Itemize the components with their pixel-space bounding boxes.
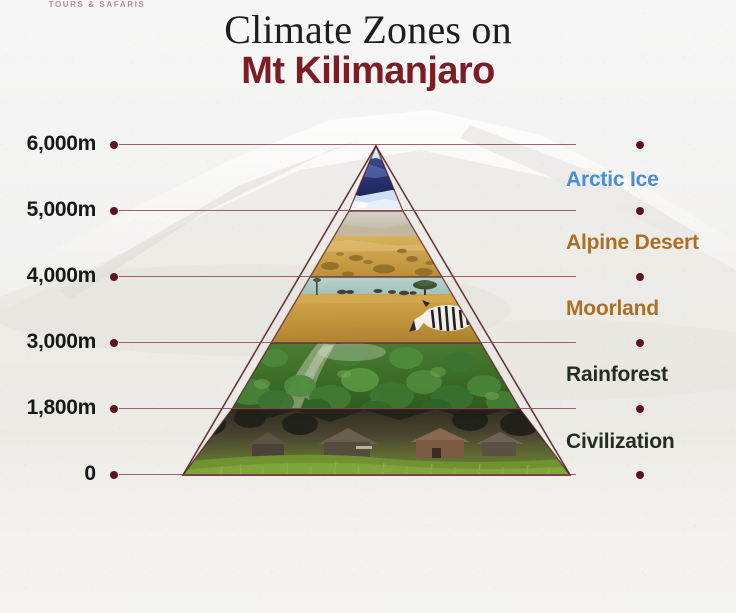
elevation-label-0: 0	[0, 462, 96, 486]
elevation-label-5000: 5,000m	[0, 198, 96, 222]
village-huts	[246, 428, 524, 458]
zone-label-moorland: Moorland	[566, 297, 659, 321]
elevation-label-3000: 3,000m	[0, 330, 96, 354]
elevation-dot-right-0	[636, 471, 644, 479]
elevation-dot-left-4000	[110, 273, 118, 281]
elevation-dot-left-6000	[110, 141, 118, 149]
elevation-label-6000: 6,000m	[0, 132, 96, 156]
elevation-dot-right-3000	[636, 339, 644, 347]
elevation-dot-left-1800	[110, 405, 118, 413]
elevation-dot-left-3000	[110, 339, 118, 347]
elevation-dot-right-4000	[636, 273, 644, 281]
elevation-line-4000	[119, 276, 576, 277]
elevation-dot-left-0	[110, 471, 118, 479]
elevation-line-0	[119, 474, 576, 475]
zone-band-alpine-desert	[300, 208, 460, 282]
distant-zebras	[337, 289, 417, 295]
page-title-line-1: Climate Zones on	[0, 6, 736, 53]
infographic-canvas: TOURS & SAFARIS Climate Zones on Mt Kili…	[0, 0, 736, 613]
elevation-dot-left-5000	[110, 207, 118, 215]
zone-band-civilization	[170, 406, 580, 480]
foreground-zebra	[409, 300, 474, 332]
elevation-label-4000: 4,000m	[0, 264, 96, 288]
zone-label-arctic-ice: Arctic Ice	[566, 168, 659, 192]
elevation-line-3000	[119, 342, 576, 343]
zone-label-civilization: Civilization	[566, 430, 674, 454]
elevation-dot-right-6000	[636, 141, 644, 149]
page-title-line-2: Mt Kilimanjaro	[0, 50, 736, 93]
zone-label-alpine-desert: Alpine Desert	[566, 231, 699, 255]
zone-label-rainforest: Rainforest	[566, 363, 668, 387]
elevation-label-1800: 1,800m	[0, 396, 96, 420]
elevation-line-6000	[119, 144, 576, 145]
elevation-dot-right-1800	[636, 405, 644, 413]
elevation-dot-right-5000	[636, 207, 644, 215]
zone-band-moorland	[260, 274, 500, 350]
zone-band-arctic-ice	[330, 140, 430, 220]
acacia-tree-icon	[413, 280, 437, 295]
elevation-line-1800	[119, 408, 576, 409]
elevation-line-5000	[119, 210, 576, 211]
